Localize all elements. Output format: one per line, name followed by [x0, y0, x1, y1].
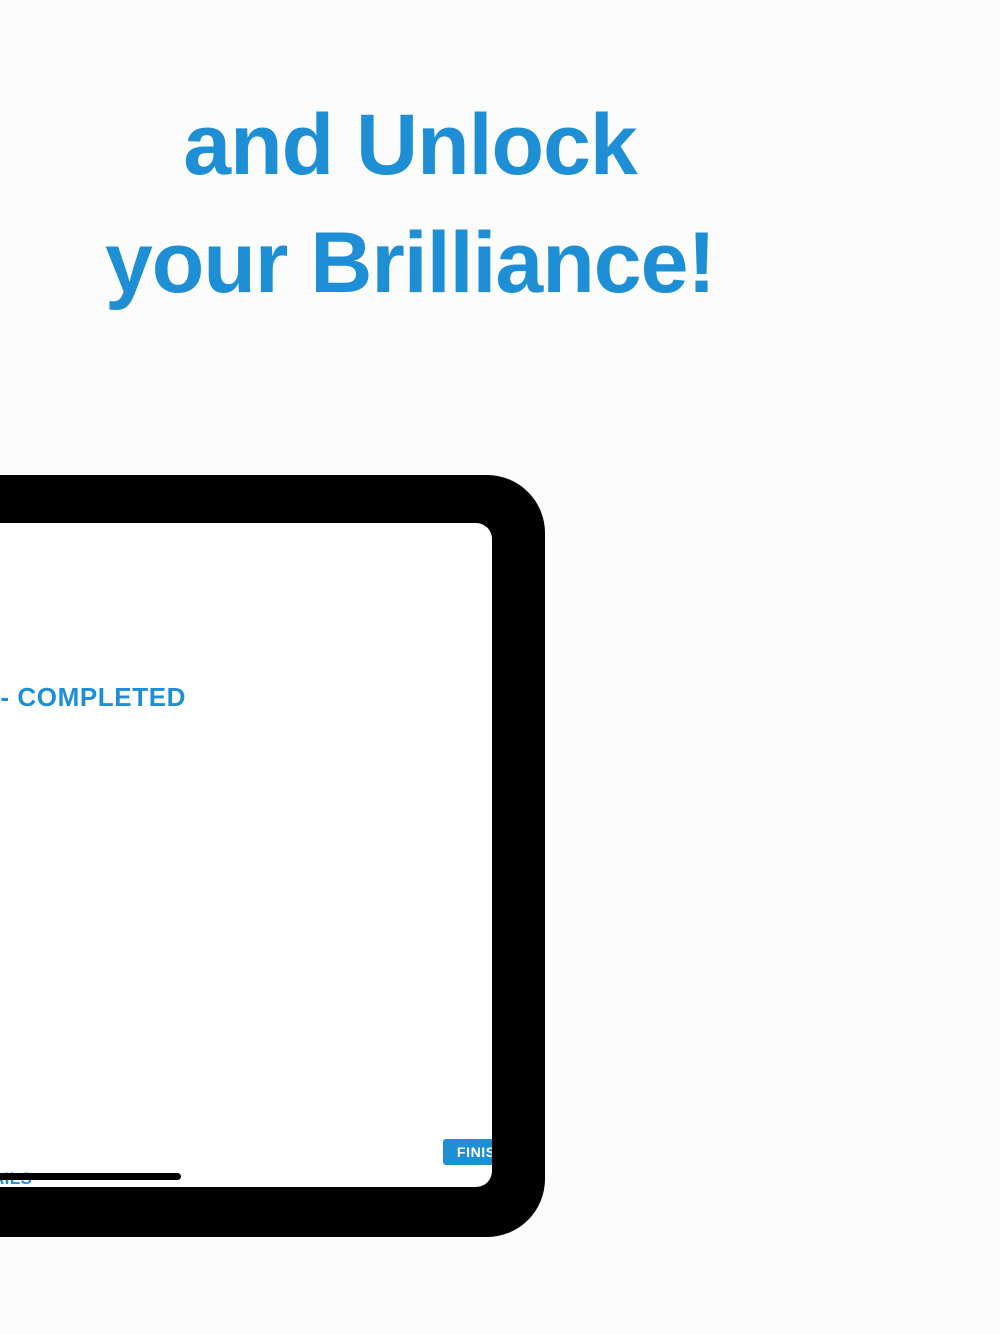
headline-line-1: and Unlock [0, 86, 820, 204]
headline-line-2: your Brilliance! [0, 204, 820, 322]
home-indicator[interactable] [0, 1173, 181, 1180]
finished-button[interactable]: FINISHED [443, 1139, 492, 1165]
tablet-screen: IGHT - COMPLETED R ORE 0 EED 0 [0, 523, 492, 1187]
tablet-device: IGHT - COMPLETED R ORE 0 EED 0 [0, 475, 545, 1237]
session-status-title: IGHT - COMPLETED [0, 682, 186, 713]
page-headline: and Unlock your Brilliance! [0, 86, 1000, 322]
app-screen: IGHT - COMPLETED R ORE 0 EED 0 [0, 523, 492, 1187]
